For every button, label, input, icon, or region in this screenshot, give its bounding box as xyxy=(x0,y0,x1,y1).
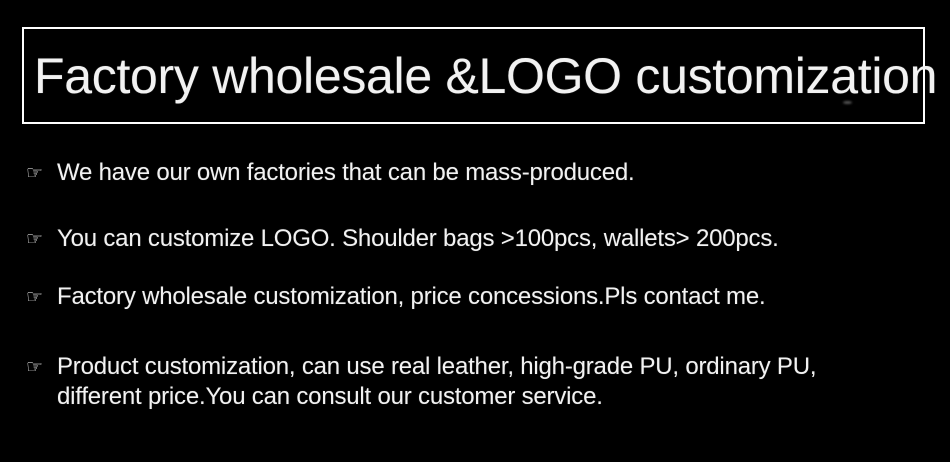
list-item-line: different price.You can consult our cust… xyxy=(57,382,942,412)
list-item-line: Factory wholesale customization, price c… xyxy=(57,282,942,312)
list-item-text: You can customize LOGO. Shoulder bags >1… xyxy=(57,224,942,254)
pointing-hand-icon: ☞ xyxy=(26,158,52,188)
page-title: Factory wholesale &LOGO customization xyxy=(34,49,914,102)
list-item-line: Product customization, can use real leat… xyxy=(57,352,942,382)
list-item-text: Product customization, can use real leat… xyxy=(57,352,942,412)
feature-bullet-list: ☞ We have our own factories that can be … xyxy=(0,150,950,412)
title-box: Factory wholesale &LOGO customization xyxy=(22,27,925,124)
list-item: ☞ Product customization, can use real le… xyxy=(0,352,950,412)
list-item: ☞ We have our own factories that can be … xyxy=(0,158,950,188)
list-item-line: You can customize LOGO. Shoulder bags >1… xyxy=(57,224,942,254)
list-item-text: We have our own factories that can be ma… xyxy=(57,158,942,188)
list-item: ☞ Factory wholesale customization, price… xyxy=(0,282,950,312)
list-item: ☞ You can customize LOGO. Shoulder bags … xyxy=(0,224,950,254)
pointing-hand-icon: ☞ xyxy=(26,352,52,382)
list-item-text: Factory wholesale customization, price c… xyxy=(57,282,942,312)
pointing-hand-icon: ☞ xyxy=(26,224,52,254)
list-item-line: We have our own factories that can be ma… xyxy=(57,158,942,188)
image-artifact-speck xyxy=(843,101,852,104)
pointing-hand-icon: ☞ xyxy=(26,282,52,312)
promo-banner: Factory wholesale &LOGO customization ☞ … xyxy=(0,0,950,462)
